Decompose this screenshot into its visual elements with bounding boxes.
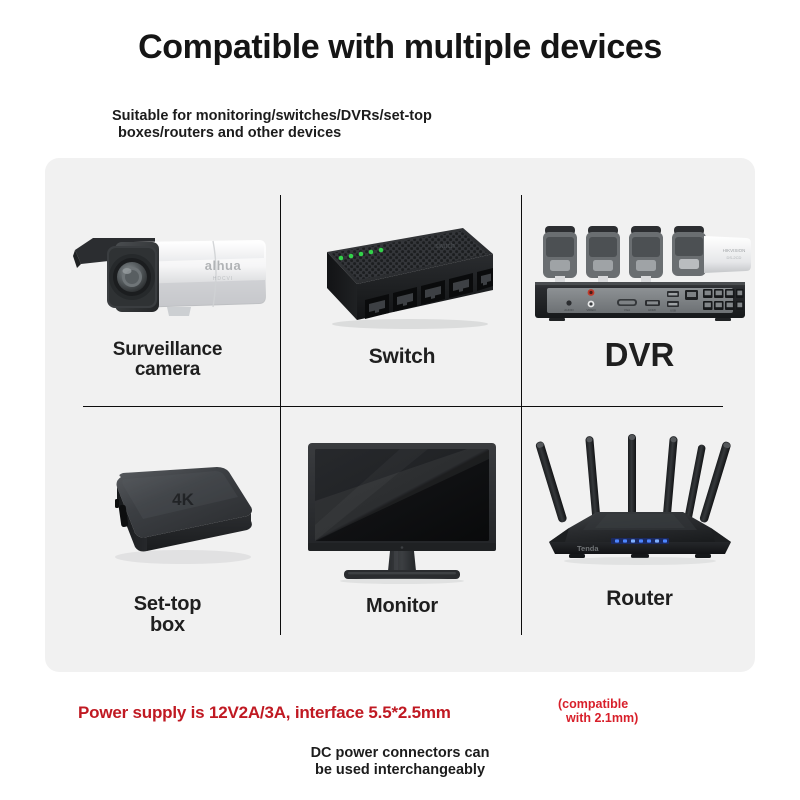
router-brand-text: Tenda bbox=[577, 544, 599, 553]
wifi-router-icon: Tenda bbox=[535, 424, 745, 576]
device-label-switch: Switch bbox=[369, 346, 435, 368]
device-label-line1: Set-top bbox=[134, 593, 201, 615]
device-cell-set-top-box: 4K Set-top box bbox=[55, 424, 280, 636]
device-art-dvr: HIKVISION DS-2CD AUDIO bbox=[524, 182, 755, 332]
device-cell-surveillance-camera: alhua HDCVI Surveillance camera bbox=[55, 182, 280, 380]
device-label-set-top-box: Set-top box bbox=[134, 594, 201, 636]
page-subtitle-line1: Suitable for monitoring/switches/DVRs/se… bbox=[112, 108, 432, 124]
device-label-line2: box bbox=[150, 614, 185, 636]
device-art-switch: switch bbox=[283, 182, 521, 332]
svg-text:HDCVI: HDCVI bbox=[212, 276, 233, 282]
grid-divider-vertical-right bbox=[521, 195, 522, 635]
svg-text:switch: switch bbox=[435, 243, 455, 250]
device-art-surveillance-camera: alhua HDCVI bbox=[55, 182, 280, 332]
svg-text:HIKVISION: HIKVISION bbox=[722, 248, 745, 253]
monitor-icon bbox=[304, 439, 500, 584]
device-label-dvr: DVR bbox=[605, 338, 675, 373]
power-compat-note: (compatible with 2.1mm) bbox=[558, 698, 638, 725]
page-subtitle-line2: boxes/routers and other devices bbox=[112, 125, 542, 142]
bullet-camera-icon: alhua HDCVI bbox=[63, 212, 273, 332]
grid-divider-horizontal bbox=[83, 406, 723, 407]
svg-text:VIDEO: VIDEO bbox=[586, 308, 596, 312]
dvr-camera-group: HIKVISION DS-2CD bbox=[543, 226, 751, 285]
dc-connector-note: DC power connectors can be used intercha… bbox=[0, 745, 800, 779]
device-cell-switch: switch bbox=[283, 182, 521, 368]
device-cell-router: Tenda Router bbox=[524, 424, 755, 610]
device-label-line2: camera bbox=[135, 359, 200, 380]
set-top-box-icon: 4K bbox=[73, 459, 263, 584]
svg-text:HDMI: HDMI bbox=[648, 308, 656, 312]
svg-text:AUDIO: AUDIO bbox=[564, 308, 574, 312]
svg-text:USB: USB bbox=[670, 309, 676, 313]
set-top-box-marking: 4K bbox=[172, 490, 194, 509]
device-compatibility-panel: alhua HDCVI Surveillance camera bbox=[45, 158, 755, 672]
svg-text:DS-2CD: DS-2CD bbox=[726, 255, 741, 260]
page-subtitle: Suitable for monitoring/switches/DVRs/se… bbox=[112, 108, 542, 142]
router-led-strip bbox=[611, 538, 669, 544]
device-art-set-top-box: 4K bbox=[55, 424, 280, 584]
network-switch-icon: switch bbox=[305, 214, 500, 332]
device-label-router: Router bbox=[606, 588, 672, 610]
device-label-surveillance-camera: Surveillance camera bbox=[113, 340, 223, 380]
dvr-recorder-icon: HIKVISION DS-2CD AUDIO bbox=[529, 214, 751, 332]
grid-divider-vertical-left bbox=[280, 195, 281, 635]
svg-text:alhua: alhua bbox=[204, 258, 241, 273]
power-supply-note: Power supply is 12V2A/3A, interface 5.5*… bbox=[78, 703, 451, 723]
device-cell-dvr: HIKVISION DS-2CD AUDIO bbox=[524, 182, 755, 373]
svg-text:VGA: VGA bbox=[623, 308, 629, 312]
dc-connector-note-line2: be used interchangeably bbox=[315, 762, 485, 778]
device-art-monitor bbox=[283, 424, 521, 584]
device-cell-monitor: Monitor bbox=[283, 424, 521, 617]
power-compat-line1: (compatible bbox=[558, 697, 628, 711]
dc-connector-note-line1: DC power connectors can bbox=[311, 745, 490, 761]
power-compat-line2: with 2.1mm) bbox=[558, 712, 638, 726]
device-label-line1: Surveillance bbox=[113, 339, 223, 360]
page-title: Compatible with multiple devices bbox=[0, 28, 800, 67]
device-label-monitor: Monitor bbox=[366, 596, 438, 617]
